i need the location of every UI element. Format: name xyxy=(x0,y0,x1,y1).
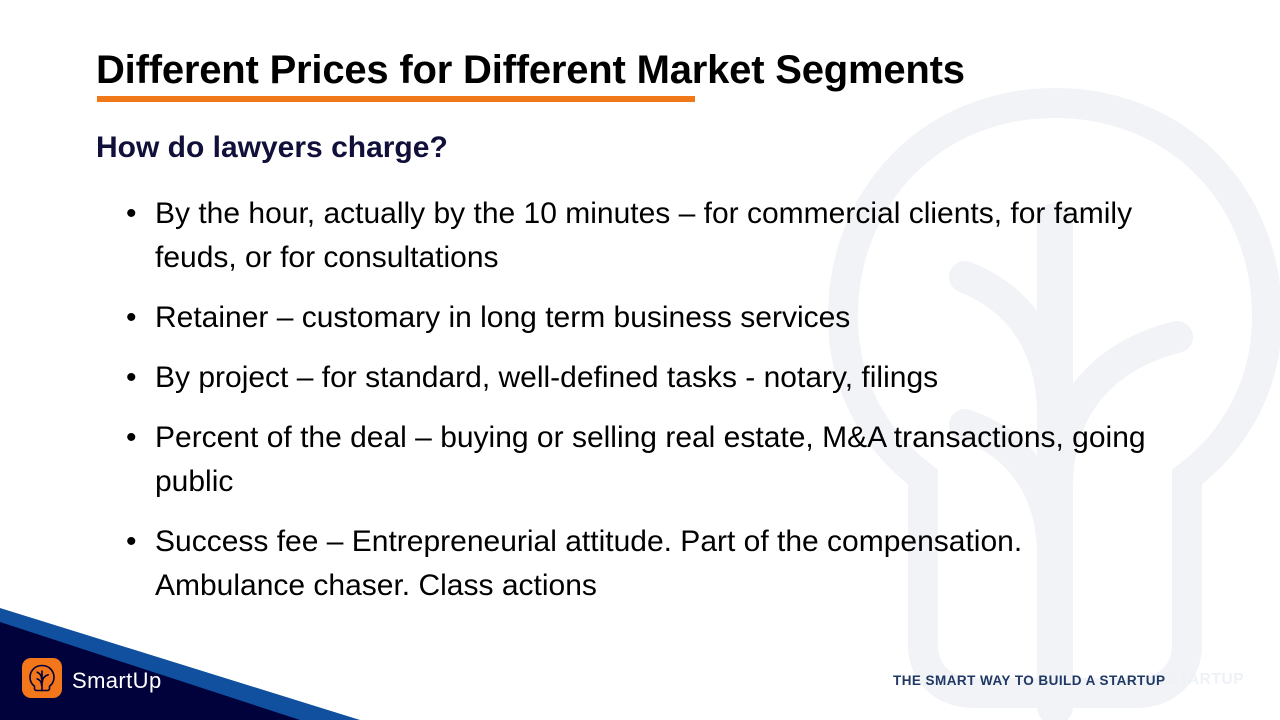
list-item-text: Percent of the deal – buying or selling … xyxy=(155,416,1166,504)
list-item: • Percent of the deal – buying or sellin… xyxy=(126,416,1166,504)
list-item-text: Success fee – Entrepreneurial attitude. … xyxy=(155,520,1166,608)
smartup-wordmark: SmartUp xyxy=(72,668,162,694)
page-title: Different Prices for Different Market Se… xyxy=(96,48,965,93)
bullet-dot-icon: • xyxy=(126,520,155,564)
bullet-dot-icon: • xyxy=(126,192,155,236)
bullet-dot-icon: • xyxy=(126,356,155,400)
slide-canvas: STARTUP Different Prices for Different M… xyxy=(0,0,1280,720)
list-item: • Success fee – Entrepreneurial attitude… xyxy=(126,520,1166,608)
watermark-word: STARTUP xyxy=(1168,671,1244,689)
section-subtitle: How do lawyers charge? xyxy=(96,131,448,165)
list-item-text: By project – for standard, well-defined … xyxy=(155,356,1166,400)
bullet-list: • By the hour, actually by the 10 minute… xyxy=(126,192,1166,624)
list-item: • By the hour, actually by the 10 minute… xyxy=(126,192,1166,280)
list-item-text: Retainer – customary in long term busine… xyxy=(155,296,1166,340)
list-item-text: By the hour, actually by the 10 minutes … xyxy=(155,192,1166,280)
title-underline-rule xyxy=(97,96,695,102)
list-item: • Retainer – customary in long term busi… xyxy=(126,296,1166,340)
smartup-logo-icon xyxy=(22,658,62,698)
bullet-dot-icon: • xyxy=(126,416,155,460)
bullet-dot-icon: • xyxy=(126,296,155,340)
list-item: • By project – for standard, well-define… xyxy=(126,356,1166,400)
tagline-text: THE SMART WAY TO BUILD A STARTUP xyxy=(893,673,1165,688)
